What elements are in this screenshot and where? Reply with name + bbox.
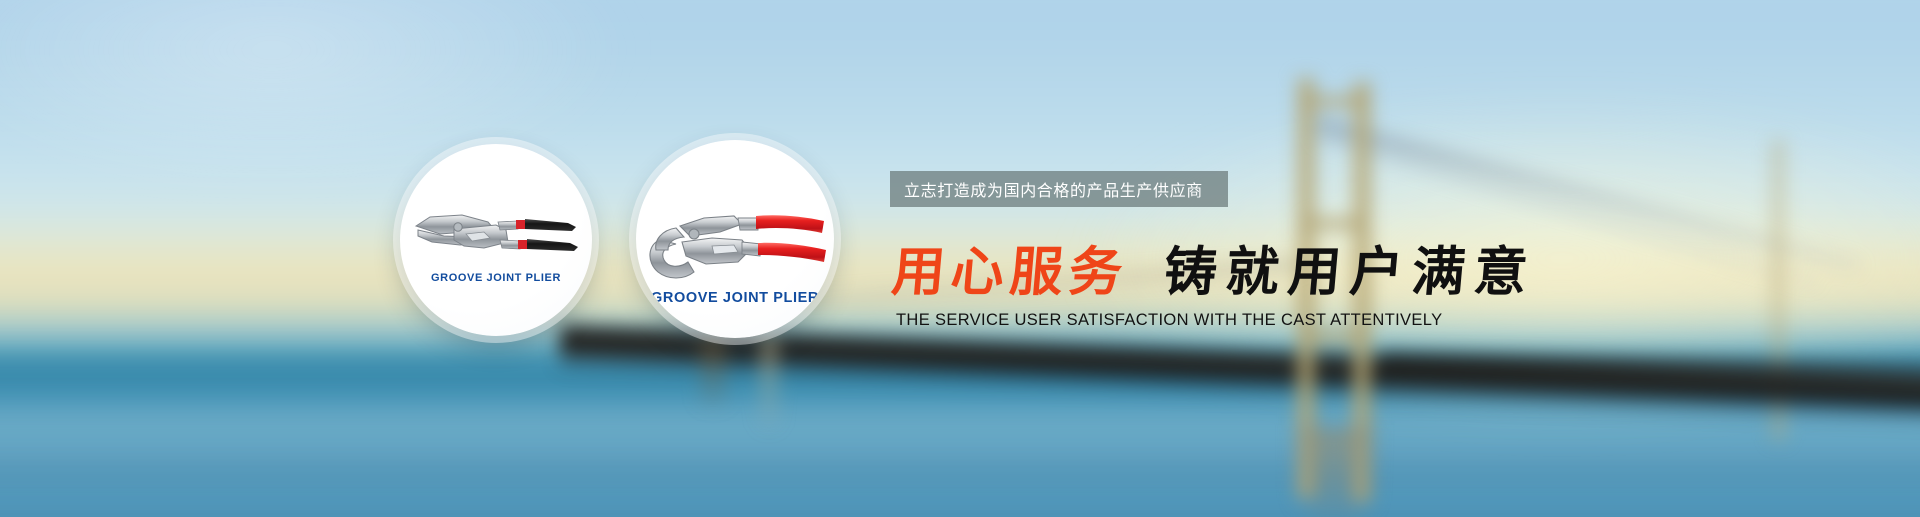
headline: 用心服务 铸就用户满意 <box>892 246 1536 299</box>
bridge-tower-crossbeam-top <box>1298 96 1370 107</box>
product-label-2: GROOVE JOINT PLIER <box>636 290 834 306</box>
product-circle-2[interactable]: GROOVE JOINT PLIER <box>636 140 834 338</box>
headline-red-text: 用心服务 <box>890 246 1131 299</box>
tagline-text: 立志打造成为国内合格的产品生产供应商 <box>904 177 1203 201</box>
groove-joint-plier-icon <box>642 188 828 298</box>
bridge-tower-crossbeam-low <box>1298 330 1370 341</box>
bridge-pier-mid <box>700 336 726 406</box>
product-circle-1[interactable]: GROOVE JOINT PLIER <box>400 144 592 336</box>
product-label-1: GROOVE JOINT PLIER <box>400 272 592 284</box>
tagline-bar: 立志打造成为国内合格的产品生产供应商 <box>890 171 1228 207</box>
headline-subtitle: THE SERVICE USER SATISFACTION WITH THE C… <box>896 311 1442 330</box>
bridge-tower-crossbeam-mid <box>1298 218 1370 229</box>
groove-joint-plier-icon <box>410 196 582 278</box>
headline-black-text: 铸就用户满意 <box>1162 246 1539 299</box>
bridge-water-reflection <box>1295 425 1375 517</box>
bridge-pier-mid2 <box>760 336 778 428</box>
hero-banner: GROOVE JOINT PLIER <box>0 0 1920 517</box>
